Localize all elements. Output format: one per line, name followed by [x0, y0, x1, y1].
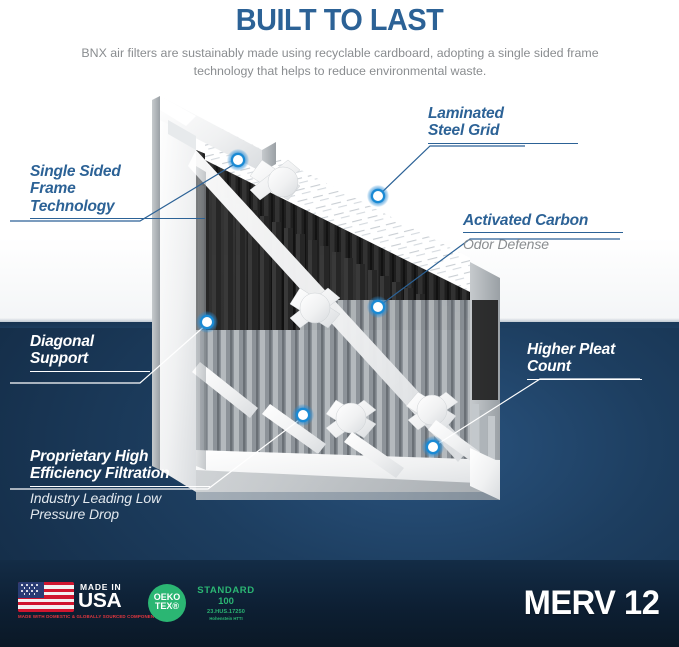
callout-title: Single Sided Frame Technology	[30, 163, 205, 215]
flag-canton	[18, 582, 44, 598]
callout-title: Higher Pleat Count	[527, 341, 642, 376]
callout-rule	[527, 379, 642, 380]
dot-core-icon	[202, 317, 212, 327]
callout-dot-diagonal-support[interactable]	[196, 311, 218, 333]
leader-lines	[0, 0, 679, 647]
oeko-standard-number: 100	[194, 596, 258, 607]
callout-proprietary-high-efficiency-filtration: Proprietary High Efficiency Filtration I…	[30, 448, 210, 523]
dot-core-icon	[233, 155, 243, 165]
callout-subtitle: Industry Leading Low Pressure Drop	[30, 490, 210, 523]
callout-rule	[30, 218, 205, 219]
callout-rule	[428, 143, 578, 144]
callout-title: Diagonal Support	[30, 333, 150, 368]
callout-laminated-steel-grid: Laminated Steel Grid	[428, 105, 578, 144]
callout-rule	[30, 486, 210, 487]
callout-title: Proprietary High Efficiency Filtration	[30, 448, 210, 483]
callout-single-sided-frame-technology: Single Sided Frame Technology	[30, 163, 205, 219]
callout-activated-carbon: Activated Carbon Odor Defense	[463, 212, 623, 253]
callout-diagonal-support: Diagonal Support	[30, 333, 150, 372]
made-in-usa-badge: MADE IN USA MADE WITH DOMESTIC & GLOBALL…	[18, 578, 136, 626]
callout-dot-higher-pleat-count[interactable]	[422, 436, 444, 458]
infographic-page: BUILT TO LAST BNX air filters are sustai…	[0, 0, 679, 647]
oeko-tex-badge: OEKOTEX® STANDARD 100 23.HUS.17250 Hohen…	[148, 580, 258, 626]
callout-rule	[463, 232, 623, 233]
callout-subtitle: Odor Defense	[463, 236, 623, 253]
oeko-tex-mark: OEKOTEX®	[148, 584, 186, 622]
oeko-certificate-number: 23.HUS.17250	[190, 609, 262, 615]
dot-core-icon	[428, 442, 438, 452]
callout-title: Activated Carbon	[463, 212, 623, 229]
usa-flag-icon	[18, 582, 74, 612]
usa-label: USA	[78, 590, 121, 613]
callout-title: Laminated Steel Grid	[428, 105, 578, 140]
dot-core-icon	[298, 410, 308, 420]
callout-dot-single-sided-frame-technology[interactable]	[227, 149, 249, 171]
dot-core-icon	[373, 302, 383, 312]
callout-dot-proprietary-high-efficiency-filtration[interactable]	[292, 404, 314, 426]
dot-core-icon	[373, 191, 383, 201]
callout-dot-laminated-steel-grid[interactable]	[367, 185, 389, 207]
usa-fine-print: MADE WITH DOMESTIC & GLOBALLY SOURCED CO…	[18, 614, 140, 619]
callout-dot-activated-carbon[interactable]	[367, 296, 389, 318]
oeko-standard-label: STANDARD	[194, 585, 258, 596]
callout-higher-pleat-count: Higher Pleat Count	[527, 341, 642, 380]
oeko-institute: Hohenstein HTTI	[190, 616, 262, 621]
merv-rating: MERV 12	[523, 584, 659, 623]
callout-rule	[30, 371, 150, 372]
